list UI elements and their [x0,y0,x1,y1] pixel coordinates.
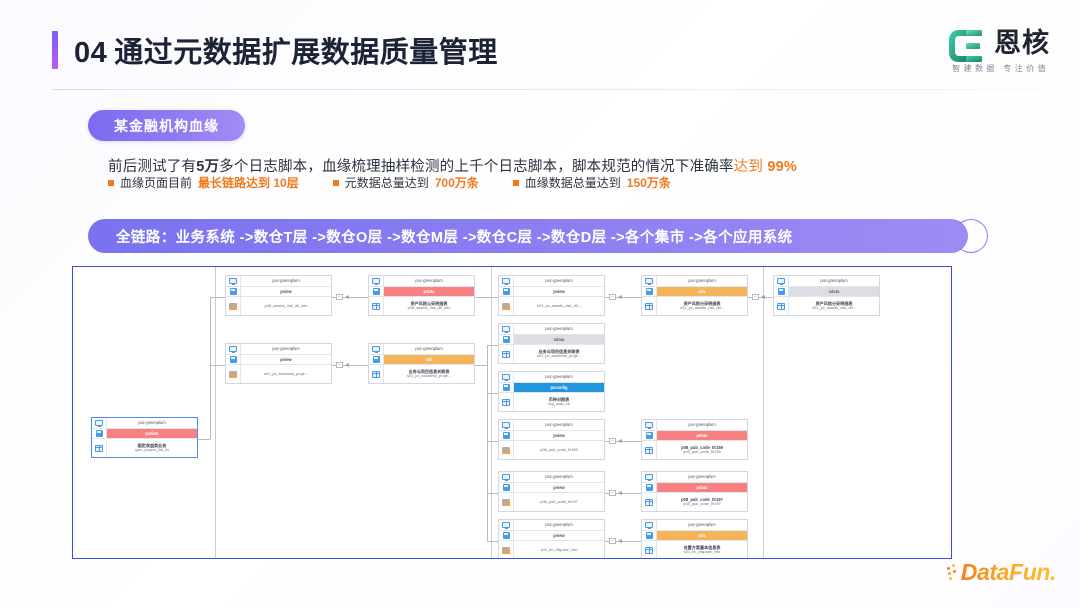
lineage-node[interactable]: poc-greenplumpviewp08_pub_code_tlr197 [498,471,605,512]
schema-icon [373,288,380,295]
node-table-en: s01_pc_business_proje... [407,374,451,379]
node-table-row: s01_pc_business_proje... [226,365,331,383]
view-icon [502,499,510,506]
column-divider [215,267,216,559]
column-divider [763,267,764,559]
lineage-edge [198,439,210,440]
bullet-highlight: 150万条 [627,174,671,191]
node-db-label: poc-greenplum [514,324,604,334]
database-icon [502,277,510,285]
node-icon-cell [369,355,384,364]
node-table-row: 固定收益类业务upm_project_list_fix [92,439,197,457]
node-table-cell: s01_bc_dispose_info [514,541,604,559]
node-icon-cell [92,429,107,438]
edge-collapse-toggle[interactable]: − [609,490,616,496]
node-schema-label: pview [514,431,604,440]
node-table-row: p08_pub_code_tlr159p08_pub_code_tlr159 [642,441,747,459]
node-table-cell: s01_pc_business_proje... [241,365,331,383]
database-icon [229,345,237,353]
lineage-node[interactable]: poc-greenplumpviews01_pc_assets_risk_dtl… [498,275,605,316]
node-table-en: s01_pc_assets_risk_dtl... [537,304,581,309]
summary-paragraph: 前后测试了有5万多个日志脚本，血缘梳理抽样检测的上千个日志脚本，脚本规范的情况下… [108,155,797,176]
node-db-row: poc-greenplum [499,372,604,383]
node-icon-cell [642,276,657,286]
node-db-label: poc-greenplum [514,372,604,382]
node-icon-cell [642,297,657,315]
list-item: 血缘数据总量达到 150万条 [513,174,671,191]
node-icon-cell [774,276,789,286]
node-table-cell: p08_pub_code_tlr197 [514,493,604,511]
node-table-en: upm_project_list_fix [135,448,169,453]
node-db-label: poc-greenplum [384,276,474,286]
slide-header: 04通过元数据扩展数据质量管理 [0,0,1080,90]
bullet-highlight: 700万条 [435,174,479,191]
view-icon [229,303,237,310]
para-highlight-2: 99% [767,159,797,175]
node-icon-cell [774,287,789,296]
schema-icon [646,484,653,491]
section-badge: 某金融机构血缘 [88,110,245,141]
stat-bullets: 血缘页面目前最长链路达到 10层 元数据总量达到 700万条 血缘数据总量达到 … [108,174,671,191]
datafun-wordmark: DataFun. [961,559,1056,586]
node-db-row: poc-greenplum [369,344,474,355]
para-part-2: 多个日志脚本，血缘梳理抽样检测的上千个日志脚本，脚本规范的情况下准确率 [219,159,734,175]
node-schema-row: ods [642,531,747,541]
node-db-label: poc-greenplum [241,344,331,354]
node-icon-cell [499,420,514,430]
node-table-en: s01_bc_dispose_info [684,550,721,555]
table-icon [502,351,510,358]
table-icon [777,303,785,310]
edge-collapse-toggle[interactable]: − [752,294,759,300]
node-db-label: poc-greenplum [514,276,604,286]
lineage-edge [475,365,487,366]
node-schema-row: pvdata [92,429,197,439]
node-icon-cell [499,383,514,392]
edge-collapse-toggle[interactable]: − [609,294,616,300]
node-schema-label: pdata [657,483,747,492]
database-icon [502,521,510,529]
slide: 04通过元数据扩展数据质量管理 [0,0,1080,608]
list-item: 元数据总量达到 700万条 [333,174,479,191]
view-icon [502,447,510,454]
node-table-row: s01_bc_dispose_info [499,541,604,559]
node-db-row: poc-greenplum [499,276,604,287]
node-schema-label: pview [241,355,331,364]
node-schema-label: ods [657,531,747,540]
node-table-row: 资产风险分采明细表s01_pc_assets_risk_dtl... [774,297,879,315]
node-icon-cell [369,276,384,286]
bullet-prefix: 血缘页面目前 [120,174,192,191]
node-schema-row: pcconfig [499,383,604,393]
para-bold-1: 5万 [196,159,219,175]
lineage-edge [475,297,487,298]
bullet-square-icon [513,180,519,186]
node-db-label: poc-greenplum [657,420,747,430]
node-schema-label: pview [514,483,604,492]
node-table-en: p08_pub_code_tlr159 [683,450,721,455]
node-icon-cell [226,365,241,383]
node-schema-label: sdata [514,335,604,344]
node-icon-cell [642,420,657,430]
node-db-row: poc-greenplum [774,276,879,287]
brand-name: 恩核 [994,26,1050,60]
section-badge-label: 某金融机构血缘 [114,116,219,136]
edge-arrow-icon [618,295,622,299]
node-table-cell: 资产风险公采明细表p08_assets_risk_dtl_info [384,297,474,315]
schema-icon [503,484,510,491]
node-db-label: poc-greenplum [384,344,474,354]
table-icon [372,303,380,310]
node-table-row: 资产风险分采明细表s01_pc_assets_risk_dtl... [642,297,747,315]
node-icon-cell [499,431,514,440]
bullet-square-icon [333,180,339,186]
node-schema-row: pview [499,287,604,297]
table-icon [95,445,103,452]
database-icon [645,521,653,529]
node-icon-cell [226,344,241,354]
node-db-row: poc-greenplum [642,276,747,287]
node-table-row: p08_assets_risk_dtl_info [226,297,331,315]
lineage-edge [210,297,211,439]
node-icon-cell [499,541,514,559]
node-table-en: s01_pc_business_proje... [264,372,308,377]
node-table-cell: 资产风险分采明细表s01_pc_assets_risk_dtl... [789,297,879,315]
bullet-highlight: 最长链路达到 10层 [198,174,299,191]
title-text: 通过元数据扩展数据质量管理 [114,37,498,69]
node-table-en: s01_pc_business_proje... [537,354,581,359]
node-db-label: poc-greenplum [657,276,747,286]
node-table-row: 处置方案基本信息表s01_bc_dispose_info [642,541,747,559]
lineage-edge [487,493,498,494]
node-schema-row: pview [499,483,604,493]
node-db-label: poc-greenplum [514,472,604,482]
node-icon-cell [642,520,657,530]
node-db-label: poc-greenplum [107,418,197,428]
node-table-row: s01_pc_assets_risk_dtl... [499,297,604,315]
node-table-row: p08_pub_code_tlr197p08_pub_code_tlr197 [642,493,747,511]
node-table-row: 资产风险公采明细表p08_assets_risk_dtl_info [369,297,474,315]
database-icon [777,277,785,285]
page-title: 04通过元数据扩展数据质量管理 [74,29,498,71]
node-icon-cell [499,287,514,296]
database-icon [229,277,237,285]
brand-tagline: 智建数据 专注价值 [952,63,1049,74]
node-db-row: poc-greenplum [369,276,474,287]
view-icon [502,303,510,310]
lineage-edge [487,365,488,541]
title-accent-bar [52,31,58,69]
node-table-cell: p08_pub_code_tlr159 [514,441,604,459]
pipeline-banner-label: 全链路：业务系统 ->数仓T层 ->数仓O层 ->数仓M层 ->数仓C层 ->数… [116,226,793,247]
schema-icon [230,288,237,295]
edge-arrow-icon [618,491,622,495]
node-table-row: 业务与项目信息关联表s01_pc_business_proje... [369,365,474,383]
schema-icon [230,356,237,363]
node-schema-label: pview [241,287,331,296]
node-schema-row: pdata [369,287,474,297]
schema-icon [503,336,510,343]
lineage-node[interactable]: poc-greenplumpviewp08_assets_risk_dtl_in… [225,275,332,316]
node-db-row: poc-greenplum [642,520,747,531]
node-icon-cell [499,324,514,334]
node-icon-cell [499,531,514,540]
lineage-edge [487,345,498,346]
edge-arrow-icon [618,439,622,443]
edge-arrow-icon [761,295,765,299]
lineage-node[interactable]: poc-greenplumods业务与项目信息关联表s01_pc_busines… [368,343,475,384]
node-table-cell: 处置方案基本信息表s01_bc_dispose_info [657,541,747,559]
lineage-node[interactable]: poc-greenplumpdata资产风险公采明细表p08_assets_ri… [368,275,475,316]
node-table-cell: p08_pub_code_tlr159p08_pub_code_tlr159 [657,441,747,459]
node-icon-cell [499,520,514,530]
edge-collapse-toggle[interactable]: − [609,538,616,544]
lineage-node[interactable]: poc-greenplumods处置方案基本信息表s01_bc_dispose_… [641,519,748,559]
node-db-row: poc-greenplum [499,520,604,531]
database-icon [645,473,653,481]
edge-collapse-toggle[interactable]: − [609,438,616,444]
node-schema-row: ods [642,287,747,297]
node-db-row: poc-greenplum [92,418,197,429]
node-icon-cell [642,493,657,511]
bullet-square-icon [108,180,114,186]
database-icon [502,325,510,333]
node-table-en: s01_pc_assets_risk_dtl... [812,306,856,311]
node-schema-label: pdata [657,431,747,440]
para-highlight-1: 达到 [734,159,763,175]
pipeline-banner: 全链路：业务系统 ->数仓T层 ->数仓O层 ->数仓M层 ->数仓C层 ->数… [88,219,998,253]
list-item: 血缘页面目前最长链路达到 10层 [108,174,299,191]
node-table-en: p08_assets_risk_dtl_info [408,306,451,311]
node-table-en: p08_assets_risk_dtl_info [265,304,308,309]
node-table-row: 业务与项目信息关联表s01_pc_business_proje... [499,345,604,363]
node-schema-label: pview [514,287,604,296]
view-icon [229,371,237,378]
lineage-node[interactable]: poc-greenplumpdatap08_pub_code_tlr197p08… [641,471,748,512]
header-divider [52,89,1038,90]
table-icon [502,399,510,406]
node-table-en: s01_bc_dispose_info [541,548,578,553]
node-icon-cell [499,441,514,459]
node-icon-cell [499,276,514,286]
node-icon-cell [499,493,514,511]
node-db-label: poc-greenplum [514,520,604,530]
bullet-prefix: 元数据总量达到 [345,174,429,191]
lineage-diagram-canvas[interactable]: poc-greenplumpvdata固定收益类业务upm_project_li… [72,266,952,559]
node-table-en: p08_pub_code_tlr159 [540,448,578,453]
node-db-row: poc-greenplum [642,420,747,431]
datafun-dots-icon [947,564,960,581]
table-icon [645,303,653,310]
node-icon-cell [499,345,514,363]
node-schema-label: ods [384,355,474,364]
schema-icon [646,288,653,295]
lineage-node[interactable]: poc-greenplumpviews01_pc_business_proje.… [225,343,332,384]
table-icon [645,547,653,554]
node-table-cell: p08_assets_risk_dtl_info [241,297,331,315]
lineage-edge [210,365,225,366]
edge-arrow-icon [618,539,622,543]
node-schema-label: pcconfig [514,383,604,392]
node-db-row: poc-greenplum [226,344,331,355]
edge-arrow-icon [345,363,349,367]
node-schema-row: pview [226,355,331,365]
lineage-node[interactable]: poc-greenplumpviewp08_pub_code_tlr159 [498,419,605,460]
node-schema-row: ods [369,355,474,365]
schema-icon [96,430,103,437]
node-icon-cell [226,297,241,315]
node-icon-cell [642,541,657,559]
datafun-logo: DataFun. [947,559,1056,586]
database-icon [645,277,653,285]
node-icon-cell [369,287,384,296]
node-table-cell: p08_pub_code_tlr197p08_pub_code_tlr197 [657,493,747,511]
table-icon [372,371,380,378]
schema-icon [778,288,785,295]
edge-collapse-toggle[interactable]: − [336,362,343,368]
node-db-label: poc-greenplum [657,520,747,530]
lineage-node[interactable]: poc-greenplumsdata业务与项目信息关联表s01_pc_busin… [498,323,605,364]
node-table-cell: s01_pc_assets_risk_dtl... [514,297,604,315]
banner-arc-decoration [954,219,988,253]
node-schema-row: pdata [642,483,747,493]
node-table-en: ccy_map_cd [548,402,570,407]
node-table-cell: 币种对照表ccy_map_cd [514,393,604,411]
node-icon-cell [226,276,241,286]
node-icon-cell [369,297,384,315]
schema-icon [503,532,510,539]
node-table-cell: 固定收益类业务upm_project_list_fix [107,439,197,457]
node-icon-cell [226,355,241,364]
database-icon [372,345,380,353]
node-icon-cell [642,472,657,482]
node-table-cell: 业务与项目信息关联表s01_pc_business_proje... [384,365,474,383]
e-logo-icon [947,27,985,65]
node-icon-cell [92,418,107,428]
node-schema-label: pview [514,531,604,540]
node-db-row: poc-greenplum [226,276,331,287]
node-table-en: p08_pub_code_tlr197 [683,502,721,507]
pipeline-banner-body: 全链路：业务系统 ->数仓T层 ->数仓O层 ->数仓M层 ->数仓C层 ->数… [88,219,968,253]
node-icon-cell [642,441,657,459]
database-icon [372,277,380,285]
node-schema-row: pdata [642,431,747,441]
node-db-label: poc-greenplum [789,276,879,286]
node-db-row: poc-greenplum [499,420,604,431]
node-db-row: poc-greenplum [499,324,604,335]
edge-collapse-toggle[interactable]: − [336,294,343,300]
database-icon [502,473,510,481]
node-icon-cell [499,472,514,482]
node-table-cell: 业务与项目信息关联表s01_pc_business_proje... [514,345,604,363]
node-table-row: p08_pub_code_tlr197 [499,493,604,511]
node-icon-cell [642,531,657,540]
edge-arrow-icon [345,295,349,299]
node-table-cell: 资产风险分采明细表s01_pc_assets_risk_dtl... [657,297,747,315]
schema-icon [646,432,653,439]
lineage-node[interactable]: poc-greenplumods资产风险分采明细表s01_pc_assets_r… [641,275,748,316]
node-table-en: p08_pub_code_tlr197 [540,500,578,505]
node-db-row: poc-greenplum [499,472,604,483]
node-schema-row: sdata [499,335,604,345]
node-schema-row: pview [226,287,331,297]
node-db-row: poc-greenplum [642,472,747,483]
database-icon [95,419,103,427]
node-icon-cell [642,431,657,440]
database-icon [502,373,510,381]
lineage-edge [487,541,498,542]
lineage-node[interactable]: poc-greenplumsdata资产风险分采明细表s01_pc_assets… [773,275,880,316]
database-icon [502,421,510,429]
node-icon-cell [369,365,384,383]
lineage-node[interactable]: poc-greenplumpdatap08_pub_code_tlr159p08… [641,419,748,460]
para-part-1: 前后测试了有 [108,159,196,175]
node-schema-row: pview [499,531,604,541]
node-icon-cell [499,335,514,344]
schema-icon [503,384,510,391]
node-schema-label: pvdata [107,429,197,438]
lineage-edge [487,297,498,298]
node-db-label: poc-greenplum [514,420,604,430]
lineage-node[interactable]: poc-greenplumpviews01_bc_dispose_info [498,519,605,559]
node-table-row: 币种对照表ccy_map_cd [499,393,604,411]
column-divider [491,267,492,559]
node-table-en: s01_pc_assets_risk_dtl... [680,306,724,311]
schema-icon [503,288,510,295]
node-schema-row: sdata [774,287,879,297]
node-schema-row: pview [499,431,604,441]
node-icon-cell [499,393,514,411]
node-icon-cell [369,344,384,354]
node-icon-cell [499,483,514,492]
node-icon-cell [226,287,241,296]
section-number: 04 [74,37,107,69]
node-schema-label: sdata [789,287,879,296]
node-schema-label: ods [657,287,747,296]
database-icon [645,421,653,429]
table-icon [645,499,653,506]
node-schema-label: pdata [384,287,474,296]
lineage-node[interactable]: poc-greenplumpvdata固定收益类业务upm_project_li… [91,417,198,458]
lineage-edge [487,441,498,442]
table-icon [645,447,653,454]
node-icon-cell [642,483,657,492]
lineage-edge [487,393,498,394]
node-icon-cell [774,297,789,315]
bullet-prefix: 血缘数据总量达到 [525,174,621,191]
node-table-row: p08_pub_code_tlr159 [499,441,604,459]
schema-icon [646,532,653,539]
node-icon-cell [499,297,514,315]
node-db-label: poc-greenplum [241,276,331,286]
lineage-edge [210,297,225,298]
node-icon-cell [642,287,657,296]
node-db-label: poc-greenplum [657,472,747,482]
node-icon-cell [92,439,107,457]
schema-icon [373,356,380,363]
view-icon [502,547,510,554]
schema-icon [503,432,510,439]
lineage-node[interactable]: poc-greenplumpcconfig币种对照表ccy_map_cd [498,371,605,412]
node-icon-cell [499,372,514,382]
